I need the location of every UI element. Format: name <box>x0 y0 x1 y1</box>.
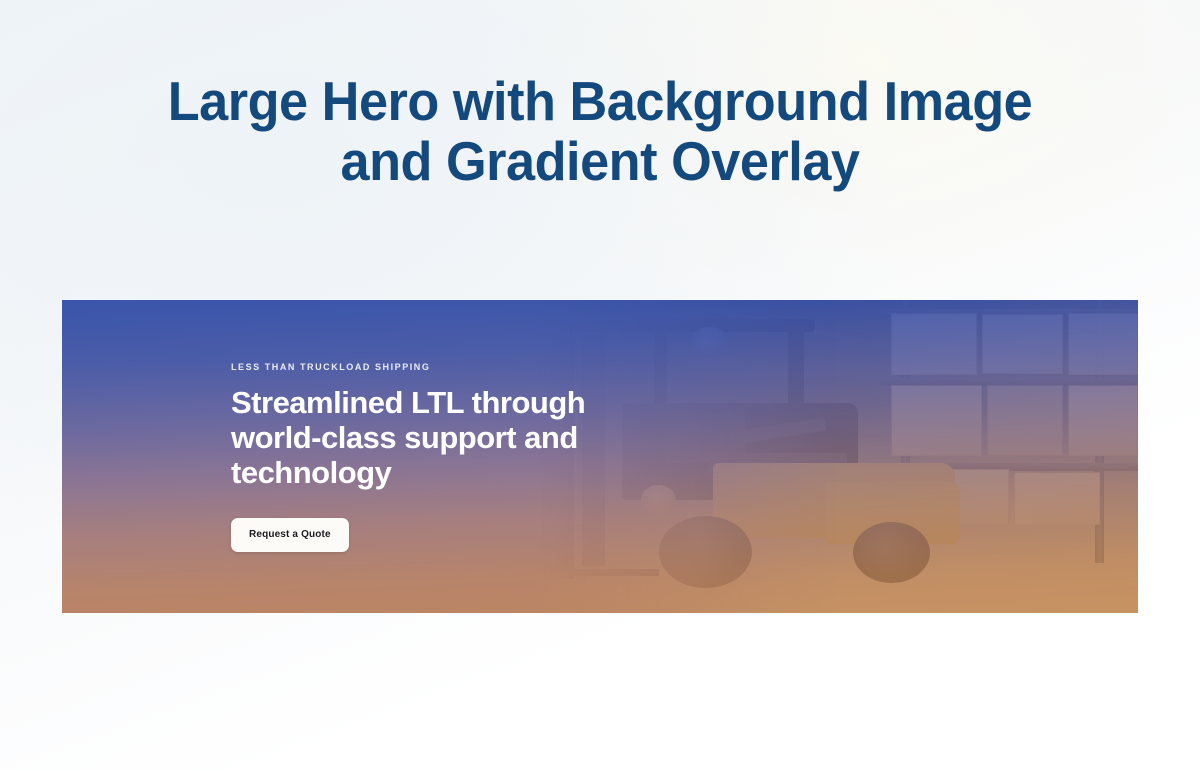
page-title: Large Hero with Background Image and Gra… <box>30 72 1170 192</box>
hero-heading: Streamlined LTL through world-class supp… <box>231 385 661 490</box>
hero-eyebrow: LESS THAN TRUCKLOAD SHIPPING <box>231 362 661 372</box>
hero-heading-line-2: world-class support and <box>231 420 661 455</box>
hero-content: LESS THAN TRUCKLOAD SHIPPING Streamlined… <box>231 362 661 552</box>
page-title-line-1: Large Hero with Background Image <box>30 72 1170 132</box>
request-a-quote-button[interactable]: Request a Quote <box>231 518 349 552</box>
hero-banner: LESS THAN TRUCKLOAD SHIPPING Streamlined… <box>62 300 1138 613</box>
page-title-line-2: and Gradient Overlay <box>30 132 1170 192</box>
hero-heading-line-1: Streamlined LTL through <box>231 385 661 420</box>
hero-heading-line-3: technology <box>231 455 661 490</box>
